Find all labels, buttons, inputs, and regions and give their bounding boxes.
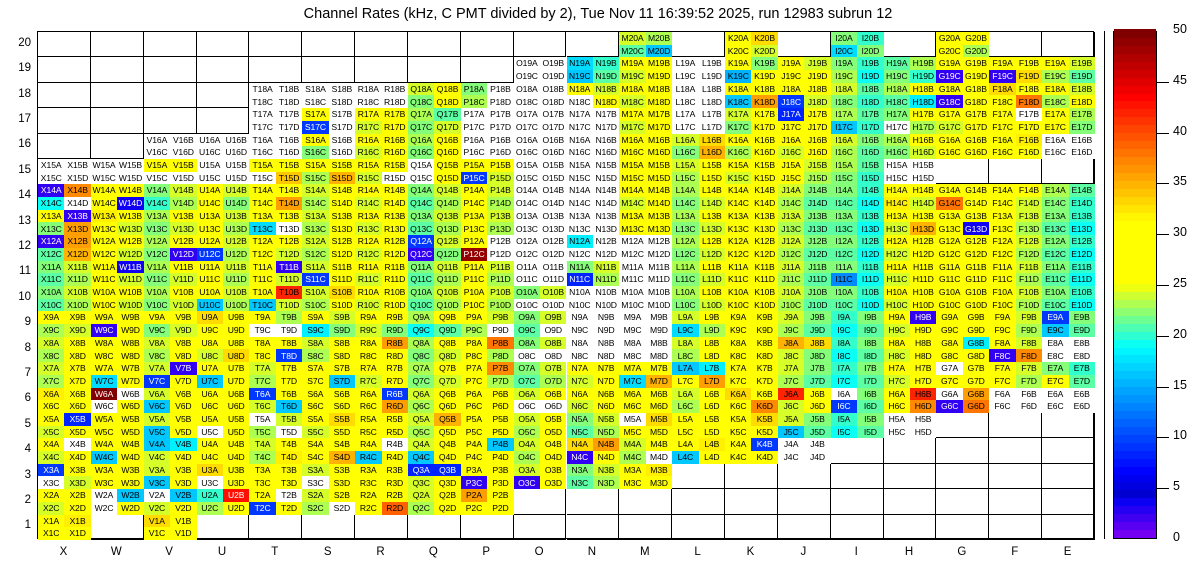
channel-subcell: I7D xyxy=(857,375,883,388)
channel-subcell: L17D xyxy=(699,121,725,134)
channel-subcell: G19D xyxy=(963,70,989,83)
module-cell: X5AX5BX5CX5D xyxy=(38,413,91,438)
channel-subcell: L10A xyxy=(672,286,698,299)
channel-subcell: N19B xyxy=(593,57,619,70)
channel-subcell: W12B xyxy=(117,235,143,248)
module-cell: H6AH6BH6CH6D xyxy=(884,388,937,413)
channel-subcell: I12A xyxy=(831,235,857,248)
channel-subcell: S2B xyxy=(329,489,355,502)
channel-subcell: X13B xyxy=(64,210,90,223)
colorbar-tick-mark xyxy=(1157,183,1169,184)
channel-subcell: U13D xyxy=(223,222,249,235)
colorbar-tick-label: 30 xyxy=(1173,225,1187,239)
channel-subcell: X2A xyxy=(38,489,64,502)
channel-subcell: G11C xyxy=(936,273,962,286)
channel-subcell: J10B xyxy=(804,286,830,299)
channel-subcell: J13D xyxy=(804,222,830,235)
channel-subcell: E6C xyxy=(1042,400,1068,413)
channel-subcell: R6D xyxy=(382,400,408,413)
channel-subcell: R16A xyxy=(355,134,381,147)
channel-subcell: T2A xyxy=(249,489,275,502)
channel-subcell: L16B xyxy=(699,134,725,147)
module-cell: F8AF8BF8CF8D xyxy=(989,337,1042,362)
channel-subcell: V14C xyxy=(144,197,170,210)
channel-subcell: R4C xyxy=(355,451,381,464)
module-cell: R17AR17BR17CR17D xyxy=(355,108,408,133)
channel-subcell: O13D xyxy=(540,222,566,235)
module-cell: N14AN14BN14CN14D xyxy=(567,184,620,209)
channel-subcell: P12B xyxy=(487,235,513,248)
channel-subcell: R8C xyxy=(355,349,381,362)
module-cell: S15AS15BS15CS15D xyxy=(302,159,355,184)
module-cell: U10AU10BU10CU10D xyxy=(197,286,250,311)
channel-subcell: J7D xyxy=(804,375,830,388)
channel-subcell: R8B xyxy=(382,337,408,350)
channel-subcell: U11C xyxy=(197,273,223,286)
channel-subcell: P2D xyxy=(487,502,513,515)
channel-subcell: Q7D xyxy=(434,375,460,388)
channel-subcell: X4A xyxy=(38,438,64,451)
module-cell: L19AL19BL19CL19D xyxy=(672,57,725,82)
module-cell: T3AT3BT3CT3D xyxy=(249,464,302,489)
module-cell: L15AL15BL15CL15D xyxy=(672,159,725,184)
module-cell: M5AM5BM5CM5D xyxy=(619,413,672,438)
channel-subcell: M12A xyxy=(619,235,645,248)
module-cell: T18AT18BT18CT18D xyxy=(249,83,302,108)
channel-subcell: Q6D xyxy=(434,400,460,413)
channel-subcell: Q10D xyxy=(434,299,460,312)
module-cell: Q7AQ7BQ7CQ7D xyxy=(408,362,461,387)
module-cell: E6AE6BE6CE6D xyxy=(1042,388,1095,413)
channel-subcell: W13D xyxy=(117,222,143,235)
channel-subcell: Q6A xyxy=(408,388,434,401)
channel-subcell: W11D xyxy=(117,273,143,286)
channel-subcell: K17C xyxy=(725,121,751,134)
channel-subcell: L13A xyxy=(672,210,698,223)
channel-subcell: N12B xyxy=(593,235,619,248)
channel-subcell: K14A xyxy=(725,184,751,197)
channel-subcell: I14C xyxy=(831,197,857,210)
channel-subcell: N12A xyxy=(567,235,593,248)
channel-subcell: L15A xyxy=(672,159,698,172)
channel-subcell: W8A xyxy=(91,337,117,350)
module-cell: N16AN16BN16CN16D xyxy=(567,134,620,159)
channel-subcell: S13C xyxy=(302,222,328,235)
module-cell: W15AW15BW15CW15D xyxy=(91,159,144,184)
channel-subcell: P8D xyxy=(487,349,513,362)
channel-subcell: I19B xyxy=(857,57,883,70)
channel-subcell: T16D xyxy=(276,146,302,159)
empty-cell xyxy=(38,83,91,108)
y-axis-tick-label: 18 xyxy=(0,88,31,100)
channel-subcell: P14B xyxy=(487,184,513,197)
channel-subcell: I9A xyxy=(831,311,857,324)
channel-subcell: O14D xyxy=(540,197,566,210)
channel-subcell: X9D xyxy=(64,324,90,337)
module-cell: E17AE17BE17CE17D xyxy=(1042,108,1095,133)
channel-subcell: R7B xyxy=(382,362,408,375)
channel-subcell: I16D xyxy=(857,146,883,159)
channel-subcell: G10D xyxy=(963,299,989,312)
channel-subcell: U3A xyxy=(197,464,223,477)
channel-subcell: V10A xyxy=(144,286,170,299)
channel-subcell: F12C xyxy=(989,248,1015,261)
module-cell: N18AN18BN18CN18D xyxy=(567,83,620,108)
module-cell: J6AJ6BJ6CJ6D xyxy=(778,388,831,413)
channel-subcell: G11B xyxy=(963,261,989,274)
channel-subcell: F19A xyxy=(989,57,1015,70)
channel-subcell: Q15A xyxy=(408,159,434,172)
module-cell: T6AT6BT6CT6D xyxy=(249,388,302,413)
module-cell: M13AM13BM13CM13D xyxy=(619,210,672,235)
channel-subcell: O12C xyxy=(514,248,540,261)
channel-subcell: T10B xyxy=(276,286,302,299)
channel-subcell: I5A xyxy=(831,413,857,426)
module-cell: T11AT11BT11CT11D xyxy=(249,261,302,286)
channel-subcell: I18D xyxy=(857,95,883,108)
channel-subcell: G11A xyxy=(936,261,962,274)
channel-subcell: I20B xyxy=(857,32,883,45)
channel-subcell: N19C xyxy=(567,70,593,83)
channel-subcell: V9D xyxy=(170,324,196,337)
channel-subcell: F17B xyxy=(1016,108,1042,121)
channel-subcell: O11B xyxy=(540,261,566,274)
channel-subcell: I6B xyxy=(857,388,883,401)
channel-subcell: Q18D xyxy=(434,95,460,108)
channel-subcell: N17A xyxy=(567,108,593,121)
channel-subcell: W12C xyxy=(91,248,117,261)
channel-subcell: J11C xyxy=(778,273,804,286)
channel-subcell: N15C xyxy=(567,172,593,185)
module-cell: O8AO8BO8CO8D xyxy=(514,337,567,362)
channel-subcell: T17D xyxy=(276,121,302,134)
channel-subcell: K18B xyxy=(751,83,777,96)
channel-subcell: P6B xyxy=(487,388,513,401)
channel-subcell: Q3D xyxy=(434,476,460,489)
module-cell: S3AS3BS3CS3D xyxy=(302,464,355,489)
channel-subcell: K5C xyxy=(725,426,751,439)
channel-subcell: H19C xyxy=(884,70,910,83)
channel-subcell: T15B xyxy=(276,159,302,172)
channel-subcell: J8B xyxy=(804,337,830,350)
channel-subcell: U3D xyxy=(223,476,249,489)
module-cell: P13AP13BP13CP13D xyxy=(461,210,514,235)
channel-subcell: J6D xyxy=(804,400,830,413)
channel-subcell: T10C xyxy=(249,299,275,312)
channel-subcell: Q11C xyxy=(408,273,434,286)
channel-subcell: Q12D xyxy=(434,248,460,261)
module-cell: F7AF7BF7CF7D xyxy=(989,362,1042,387)
channel-subcell: L19A xyxy=(672,57,698,70)
channel-subcell: H16B xyxy=(910,134,936,147)
channel-subcell: X5D xyxy=(64,426,90,439)
channel-subcell: I18A xyxy=(831,83,857,96)
channel-subcell: L18D xyxy=(699,95,725,108)
channel-subcell: I15D xyxy=(857,172,883,185)
x-axis-tick-label: X xyxy=(43,546,83,558)
channel-subcell: V16B xyxy=(170,134,196,147)
channel-subcell: I10C xyxy=(831,299,857,312)
channel-subcell: P7B xyxy=(487,362,513,375)
channel-subcell: O13B xyxy=(540,210,566,223)
channel-subcell: Q2B xyxy=(434,489,460,502)
channel-subcell: W3A xyxy=(91,464,117,477)
channel-subcell: N11A xyxy=(567,261,593,274)
module-cell: V4AV4BV4CV4D xyxy=(144,438,197,463)
empty-cell xyxy=(567,489,620,514)
channel-subcell: G10C xyxy=(936,299,962,312)
module-cell: W13AW13BW13CW13D xyxy=(91,210,144,235)
module-cell: H14AH14BH14CH14D xyxy=(884,184,937,209)
channel-subcell: P6D xyxy=(487,400,513,413)
channel-subcell: T5A xyxy=(249,413,275,426)
channel-subcell: G6C xyxy=(936,400,962,413)
module-cell: O3AO3BO3CO3D xyxy=(514,464,567,489)
module-cell: L18AL18BL18CL18D xyxy=(672,83,725,108)
module-cell: H17AH17BH17CH17D xyxy=(884,108,937,133)
empty-cell xyxy=(619,515,672,540)
channel-subcell: P8B xyxy=(487,337,513,350)
channel-subcell: S3B xyxy=(329,464,355,477)
module-cell: G20AG20BG20CG20D xyxy=(936,32,989,57)
channel-subcell: G19B xyxy=(963,57,989,70)
channel-subcell: E6B xyxy=(1069,388,1095,401)
channel-subcell: T5C xyxy=(249,426,275,439)
channel-subcell: R17A xyxy=(355,108,381,121)
channel-subcell: P3D xyxy=(487,476,513,489)
channel-subcell: L10D xyxy=(699,299,725,312)
channel-subcell: Q5A xyxy=(408,413,434,426)
module-cell: N3AN3BN3CN3D xyxy=(567,464,620,489)
module-cell: T10AT10BT10CT10D xyxy=(249,286,302,311)
channel-subcell: F13B xyxy=(1016,210,1042,223)
channel-subcell: R12B xyxy=(382,235,408,248)
module-cell: O9AO9BO9CO9D xyxy=(514,311,567,336)
channel-subcell: P13A xyxy=(461,210,487,223)
channel-subcell: H9C xyxy=(884,324,910,337)
channel-subcell: O5C xyxy=(514,426,540,439)
channel-subcell: E17A xyxy=(1042,108,1068,121)
channel-subcell: V5D xyxy=(170,426,196,439)
channel-subcell: S15A xyxy=(302,159,328,172)
empty-cell xyxy=(672,464,725,489)
channel-subcell: N15B xyxy=(593,159,619,172)
module-cell: N5AN5BN5CN5D xyxy=(567,413,620,438)
channel-subcell: N9A xyxy=(567,311,593,324)
channel-subcell: F19D xyxy=(1016,70,1042,83)
channel-subcell: K5B xyxy=(751,413,777,426)
channel-subcell: O8A xyxy=(514,337,540,350)
channel-subcell: E9D xyxy=(1069,324,1095,337)
channel-subcell: M19D xyxy=(646,70,672,83)
channel-subcell: N13B xyxy=(593,210,619,223)
module-cell: N11AN11BN11CN11D xyxy=(567,261,620,286)
channel-subcell: L19C xyxy=(672,70,698,83)
x-axis-tick-label: F xyxy=(995,546,1035,558)
channel-subcell: K8A xyxy=(725,337,751,350)
channel-subcell: K20B xyxy=(751,32,777,45)
module-cell: J12AJ12BJ12CJ12D xyxy=(778,235,831,260)
channel-subcell: N4A xyxy=(567,438,593,451)
channel-subcell: R8A xyxy=(355,337,381,350)
empty-cell xyxy=(936,515,989,540)
empty-cell xyxy=(38,32,91,57)
channel-subcell: R4D xyxy=(382,451,408,464)
channel-subcell: L16D xyxy=(699,146,725,159)
module-cell: R2AR2BR2CR2D xyxy=(355,489,408,514)
channel-subcell: T6C xyxy=(249,400,275,413)
channel-subcell: E13D xyxy=(1069,222,1095,235)
x-axis-tick-label: S xyxy=(308,546,348,558)
channel-subcell: X10C xyxy=(38,299,64,312)
channel-subcell: P5A xyxy=(461,413,487,426)
channel-subcell: V13B xyxy=(170,210,196,223)
channel-subcell: S3A xyxy=(302,464,328,477)
channel-subcell: O11C xyxy=(514,273,540,286)
channel-subcell: I7B xyxy=(857,362,883,375)
channel-subcell: V16D xyxy=(170,146,196,159)
channel-subcell: O17B xyxy=(540,108,566,121)
channel-subcell: X1A xyxy=(38,515,64,528)
module-cell: U6AU6BU6CU6D xyxy=(197,388,250,413)
channel-subcell: V1B xyxy=(170,515,196,528)
channel-subcell: K9B xyxy=(751,311,777,324)
channel-subcell: X9B xyxy=(64,311,90,324)
channel-subcell: E19B xyxy=(1069,57,1095,70)
channel-subcell: K12C xyxy=(725,248,751,261)
channel-subcell: F13C xyxy=(989,222,1015,235)
channel-subcell: I18B xyxy=(857,83,883,96)
channel-subcell: J6B xyxy=(804,388,830,401)
channel-subcell: L12A xyxy=(672,235,698,248)
channel-subcell: G18C xyxy=(936,95,962,108)
channel-subcell: P8A xyxy=(461,337,487,350)
channel-subcell: V14B xyxy=(170,184,196,197)
channel-subcell: M18D xyxy=(646,95,672,108)
empty-cell xyxy=(725,515,778,540)
channel-subcell: H16A xyxy=(884,134,910,147)
channel-subcell: I7A xyxy=(831,362,857,375)
module-cell: M9AM9BM9CM9D xyxy=(619,311,672,336)
channel-subcell: X5C xyxy=(38,426,64,439)
channel-subcell: H10A xyxy=(884,286,910,299)
channel-subcell: T12D xyxy=(276,248,302,261)
channel-subcell: L11B xyxy=(699,261,725,274)
module-cell: Q15AQ15BQ15CQ15D xyxy=(408,159,461,184)
channel-subcell: K10B xyxy=(751,286,777,299)
channel-subcell: H11D xyxy=(910,273,936,286)
module-cell: O5AO5BO5CO5D xyxy=(514,413,567,438)
channel-subcell: S3D xyxy=(329,476,355,489)
channel-subcell: K15B xyxy=(751,159,777,172)
channel-subcell: W11C xyxy=(91,273,117,286)
channel-subcell: G14C xyxy=(936,197,962,210)
channel-subcell: E16C xyxy=(1042,146,1068,159)
channel-subcell: J5A xyxy=(778,413,804,426)
module-cell: F10AF10BF10CF10D xyxy=(989,286,1042,311)
channel-subcell: O4A xyxy=(514,438,540,451)
channel-subcell: W6D xyxy=(117,400,143,413)
channel-subcell: X10B xyxy=(64,286,90,299)
empty-cell xyxy=(778,515,831,540)
channel-subcell: P15C xyxy=(461,172,487,185)
channel-subcell: V11C xyxy=(144,273,170,286)
channel-subcell: S18B xyxy=(329,83,355,96)
channel-subcell: R3D xyxy=(382,476,408,489)
channel-subcell: F11D xyxy=(1016,273,1042,286)
channel-subcell: O8C xyxy=(514,349,540,362)
channel-subcell: M9A xyxy=(619,311,645,324)
channel-subcell: Q13B xyxy=(434,210,460,223)
x-axis-tick-label: M xyxy=(625,546,665,558)
channel-subcell: P3B xyxy=(487,464,513,477)
channel-subcell: G7C xyxy=(936,375,962,388)
channel-subcell: V11B xyxy=(170,261,196,274)
module-cell: P18AP18BP18CP18D xyxy=(461,83,514,108)
channel-subcell: L16C xyxy=(672,146,698,159)
colorbar-tick-label: 25 xyxy=(1173,276,1187,290)
channel-subcell: I12B xyxy=(857,235,883,248)
channel-subcell: Q13C xyxy=(408,222,434,235)
module-cell: G18AG18BG18CG18D xyxy=(936,83,989,108)
channel-subcell: J9C xyxy=(778,324,804,337)
channel-subcell: Q9D xyxy=(434,324,460,337)
channel-subcell: M6B xyxy=(646,388,672,401)
channel-subcell: M4A xyxy=(619,438,645,451)
channel-subcell: M14D xyxy=(646,197,672,210)
channel-subcell: I8D xyxy=(857,349,883,362)
channel-subcell: H19D xyxy=(910,70,936,83)
channel-subcell: N5A xyxy=(567,413,593,426)
channel-subcell: P11C xyxy=(461,273,487,286)
module-cell: N13AN13BN13CN13D xyxy=(567,210,620,235)
channel-subcell: I11C xyxy=(831,273,857,286)
channel-subcell: U11D xyxy=(223,273,249,286)
channel-subcell: O7A xyxy=(514,362,540,375)
colorbar-tick-mark xyxy=(1157,387,1169,388)
channel-subcell: I14D xyxy=(857,197,883,210)
channel-subcell: P9A xyxy=(461,311,487,324)
channel-subcell: M8A xyxy=(619,337,645,350)
channel-subcell: M13B xyxy=(646,210,672,223)
channel-subcell: Q9A xyxy=(408,311,434,324)
channel-subcell: Q2D xyxy=(434,502,460,515)
channel-subcell: W2C xyxy=(91,502,117,515)
colorbar-tick-label: 50 xyxy=(1173,22,1187,36)
module-cell: U7AU7BU7CU7D xyxy=(197,362,250,387)
channel-subcell: W7B xyxy=(117,362,143,375)
module-cell: H18AH18BH18CH18D xyxy=(884,83,937,108)
y-axis-tick-label: 4 xyxy=(0,443,31,455)
module-cell: L7AL7BL7CL7D xyxy=(672,362,725,387)
channel-subcell: M9C xyxy=(619,324,645,337)
channel-subcell: N6C xyxy=(567,400,593,413)
channel-subcell: J9A xyxy=(778,311,804,324)
channel-subcell: N7C xyxy=(567,375,593,388)
empty-cell xyxy=(1042,515,1095,540)
channel-subcell: I13A xyxy=(831,210,857,223)
channel-subcell: U3C xyxy=(197,476,223,489)
channel-subcell: O10A xyxy=(514,286,540,299)
module-cell: K17AK17BK17CK17D xyxy=(725,108,778,133)
channel-subcell: V8C xyxy=(144,349,170,362)
module-cell: I7AI7BI7CI7D xyxy=(831,362,884,387)
channel-subcell: N7B xyxy=(593,362,619,375)
channel-subcell: V3B xyxy=(170,464,196,477)
channel-subcell: S6A xyxy=(302,388,328,401)
module-cell: V3AV3BV3CV3D xyxy=(144,464,197,489)
channel-subcell: P9D xyxy=(487,324,513,337)
